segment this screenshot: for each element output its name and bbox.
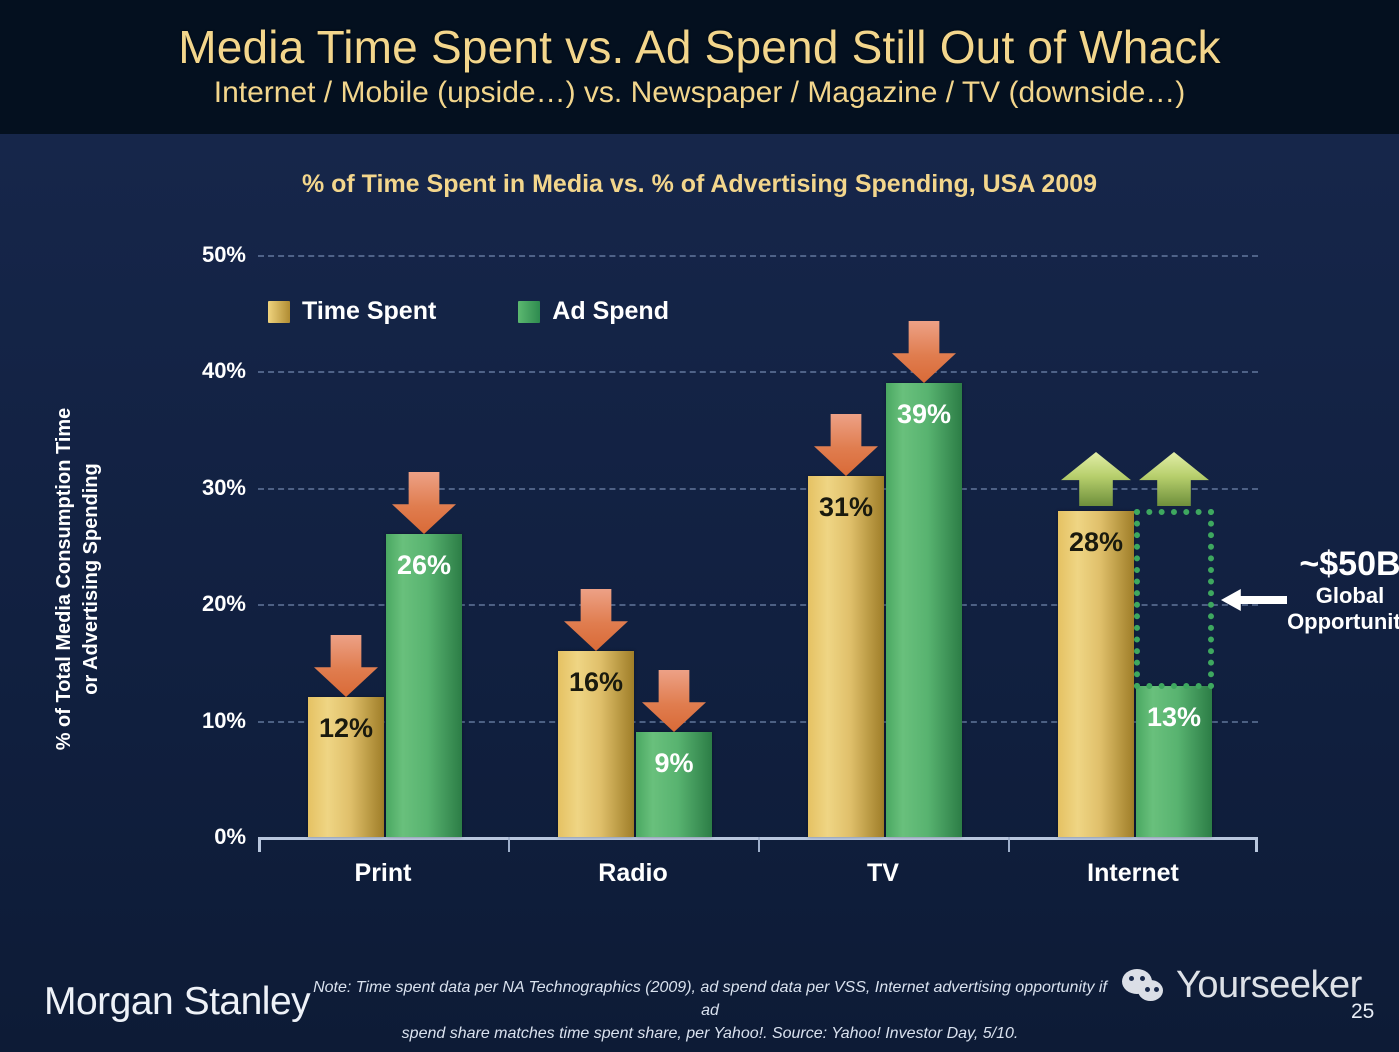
y-axis-title-line1: % of Total Media Consumption Time (53, 408, 75, 751)
bar-value-tv-ad-spend: 39% (886, 399, 962, 430)
opportunity-line2: Opportunity (1250, 609, 1399, 635)
bar-print-ad-spend[interactable]: 26% (386, 534, 462, 837)
slide-header: Media Time Spent vs. Ad Spend Still Out … (0, 0, 1399, 134)
page-number: 25 (1351, 1000, 1374, 1024)
x-category-label-print: Print (263, 859, 503, 888)
y-tick-label-20: 20% (202, 591, 246, 617)
watermark-text: Yourseeker (1176, 964, 1362, 1007)
y-tick-label-40: 40% (202, 358, 246, 384)
x-axis-cap-right (1255, 837, 1258, 852)
opportunity-callout: ~$50B Global Opportunity (1250, 547, 1399, 635)
opportunity-line1: Global (1250, 583, 1399, 609)
y-tick-label-50: 50% (202, 242, 246, 268)
footnote-line2: spend share matches time spent share, pe… (310, 1022, 1110, 1045)
gridline-50 (258, 255, 1258, 257)
bar-value-internet-time-spent: 28% (1058, 527, 1134, 558)
page-title: Media Time Spent vs. Ad Spend Still Out … (178, 24, 1221, 71)
up-arrow-icon-internet-ad-spend (1139, 452, 1209, 506)
opportunity-amount: ~$50B (1250, 547, 1399, 583)
y-axis-title: % of Total Media Consumption Time or Adv… (51, 408, 105, 751)
watermark: Yourseeker (1122, 964, 1362, 1007)
bar-value-radio-ad-spend: 9% (636, 748, 712, 779)
x-category-label-radio: Radio (513, 859, 753, 888)
bar-internet-time-spent[interactable]: 28% (1058, 511, 1134, 837)
y-axis-title-line2: or Advertising Spending (80, 463, 102, 695)
plot-area: 50% 40% 30% 20% 10% 0% 12% 26% Print 16%… (258, 255, 1258, 837)
down-arrow-icon-tv-time-spent (814, 414, 878, 476)
y-tick-label-30: 30% (202, 475, 246, 501)
y-tick-label-0: 0% (214, 824, 246, 850)
bar-value-print-time-spent: 12% (308, 713, 384, 744)
up-arrow-icon-internet-time-spent (1061, 452, 1131, 506)
x-axis-tick-3 (1008, 837, 1010, 852)
bar-tv-ad-spend[interactable]: 39% (886, 383, 962, 837)
x-axis-tick-1 (508, 837, 510, 852)
bar-tv-time-spent[interactable]: 31% (808, 476, 884, 837)
down-arrow-icon-print-time-spent (314, 635, 378, 697)
page-subtitle: Internet / Mobile (upside…) vs. Newspape… (214, 76, 1186, 110)
bar-radio-time-spent[interactable]: 16% (558, 651, 634, 837)
chart-title: % of Time Spent in Media vs. % of Advert… (0, 170, 1399, 199)
x-category-label-internet: Internet (1013, 859, 1253, 888)
x-category-label-tv: TV (763, 859, 1003, 888)
bar-internet-ad-spend[interactable]: 13% (1136, 686, 1212, 837)
x-axis-cap-left (258, 837, 261, 852)
slide-body: % of Time Spent in Media vs. % of Advert… (0, 134, 1399, 1052)
morgan-stanley-logo: Morgan Stanley (44, 980, 310, 1024)
y-tick-label-10: 10% (202, 708, 246, 734)
bar-radio-ad-spend[interactable]: 9% (636, 732, 712, 837)
footnote-line1: Note: Time spent data per NA Technograph… (313, 979, 1107, 1019)
footnote: Note: Time spent data per NA Technograph… (310, 976, 1110, 1046)
down-arrow-icon-radio-time-spent (564, 589, 628, 651)
bar-value-internet-ad-spend: 13% (1136, 702, 1212, 733)
down-arrow-icon-tv-ad-spend (892, 321, 956, 383)
x-axis-tick-2 (758, 837, 760, 852)
gridline-40 (258, 371, 1258, 373)
down-arrow-icon-print-ad-spend (392, 472, 456, 534)
opportunity-box (1134, 509, 1214, 689)
bar-value-tv-time-spent: 31% (808, 492, 884, 523)
bar-value-print-ad-spend: 26% (386, 550, 462, 581)
bar-value-radio-time-spent: 16% (558, 667, 634, 698)
wechat-icon (1122, 967, 1168, 1005)
bar-print-time-spent[interactable]: 12% (308, 697, 384, 837)
